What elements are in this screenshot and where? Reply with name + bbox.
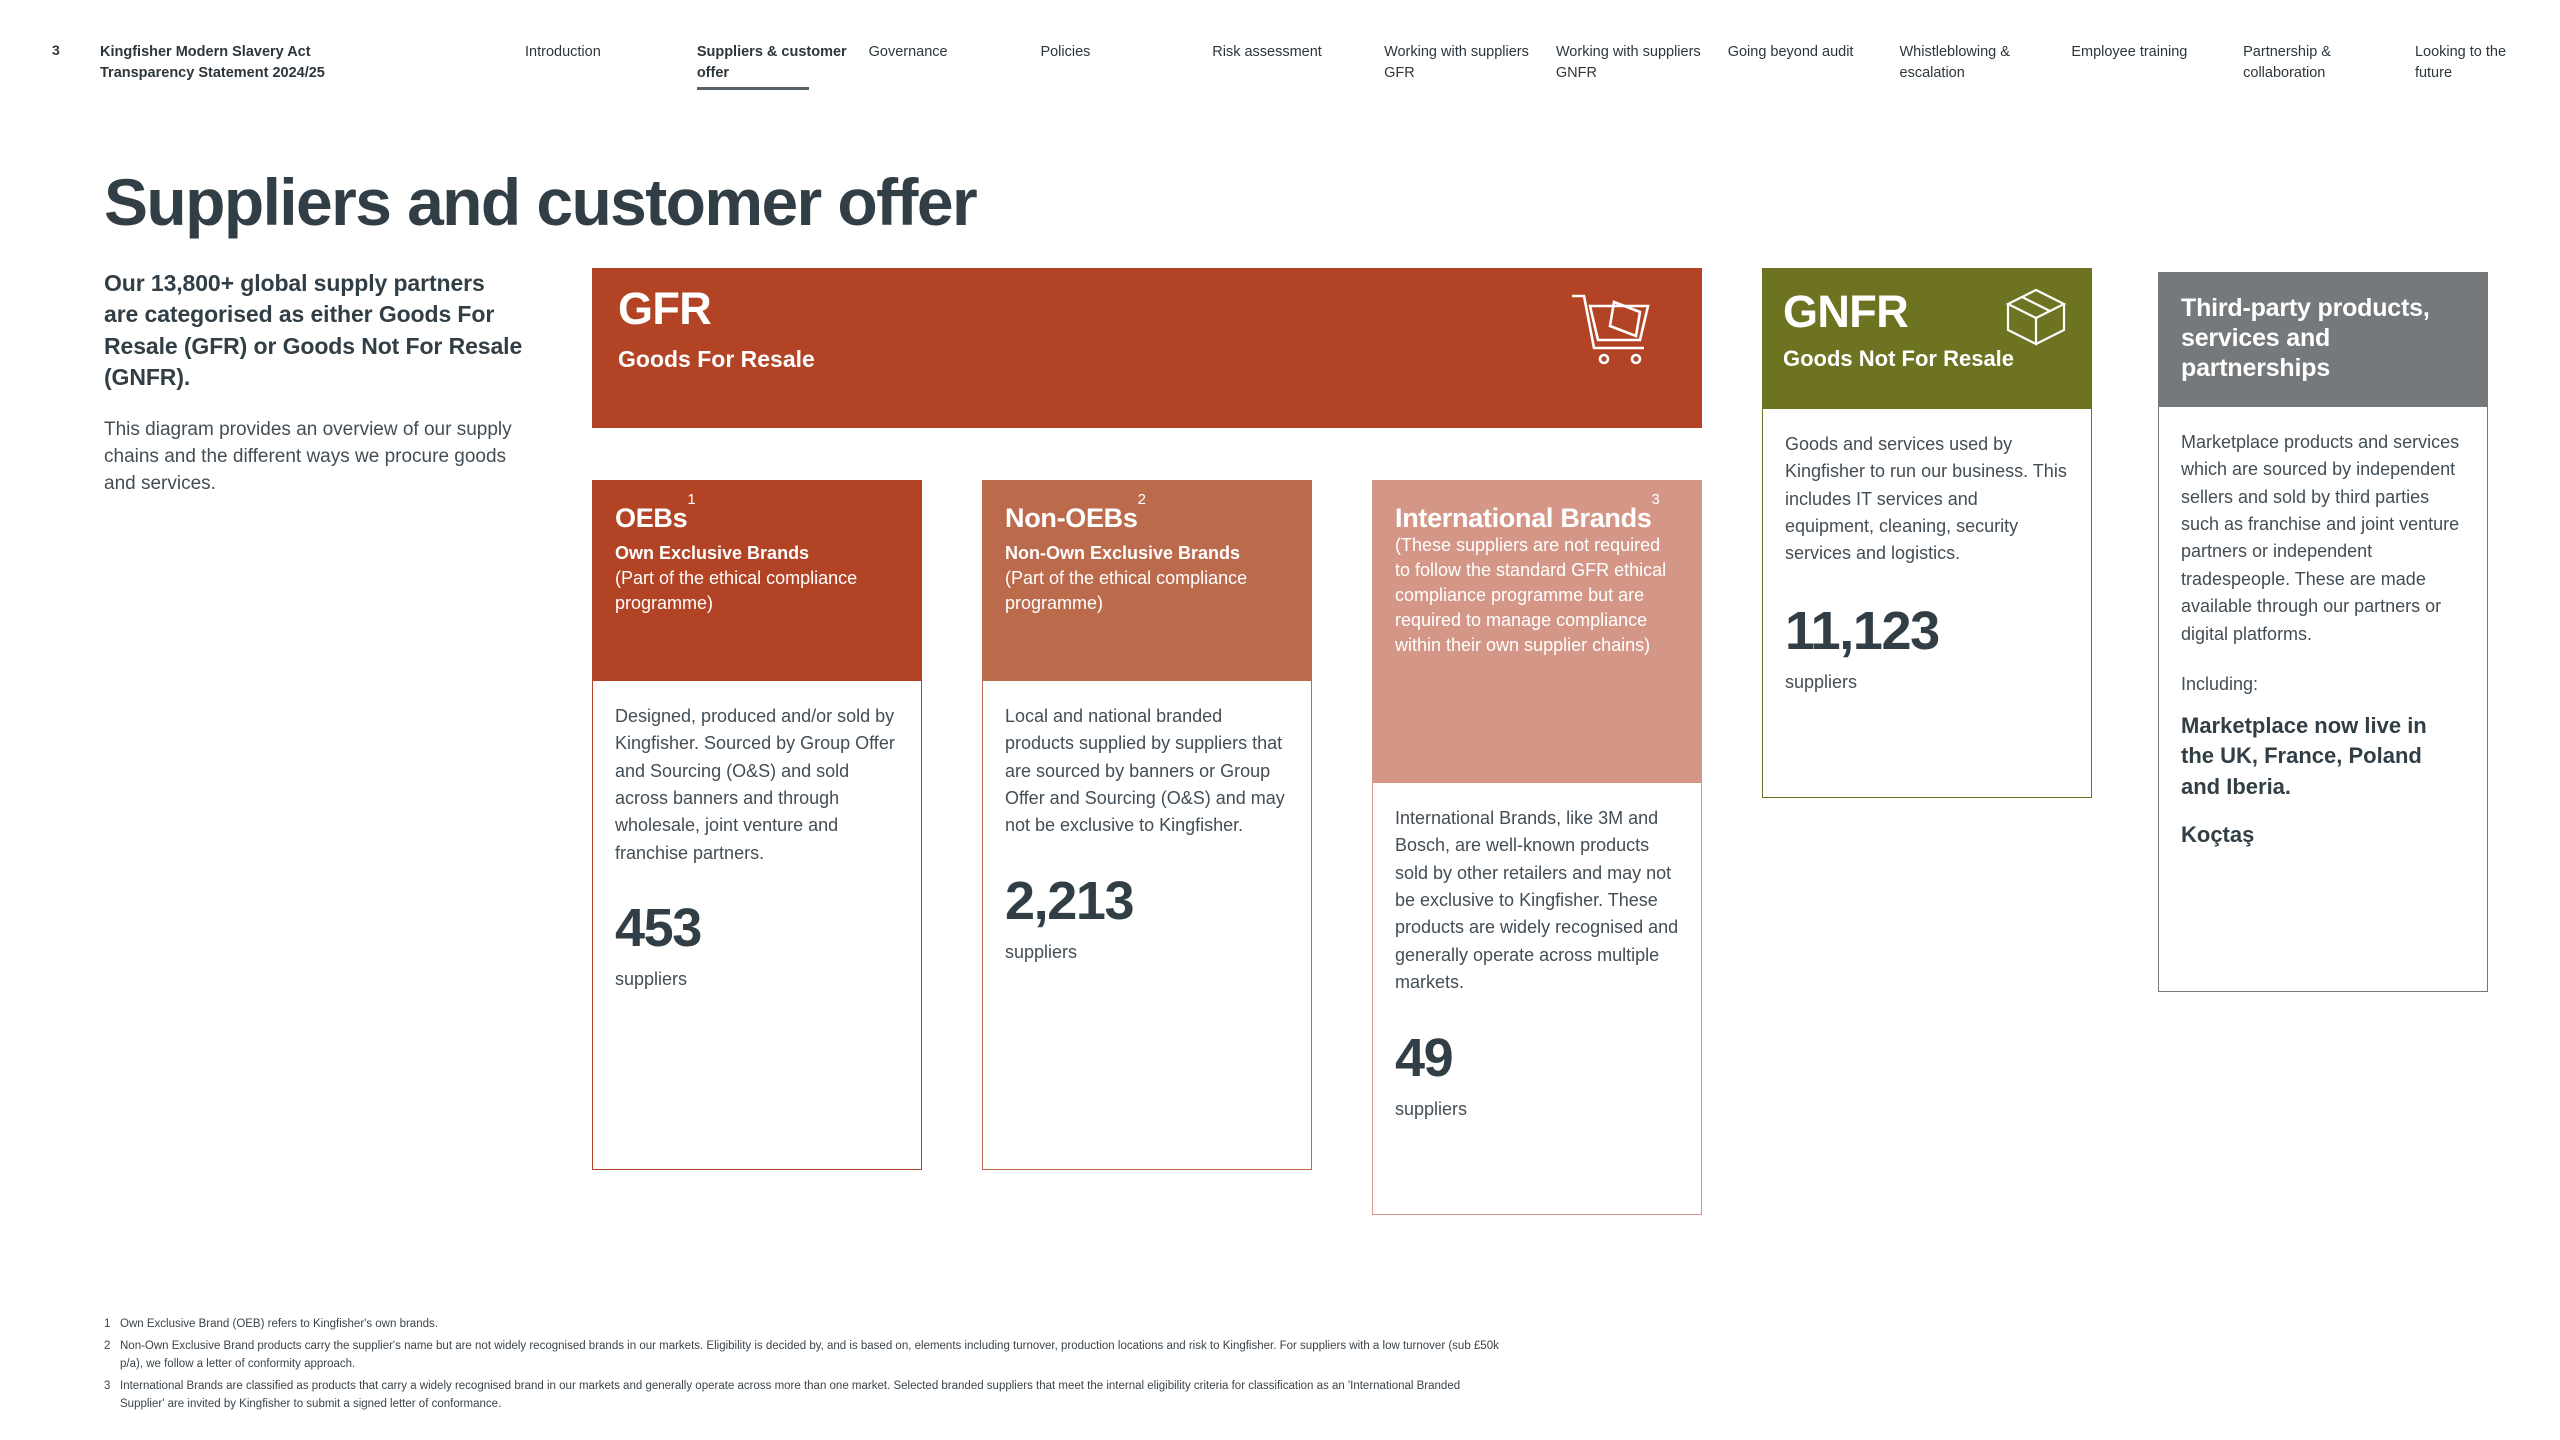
card-oebs-value-label: suppliers bbox=[615, 969, 899, 990]
card-oebs: OEBs1 Own Exclusive Brands (Part of the … bbox=[592, 480, 922, 1170]
card-oebs-title-text: OEBs bbox=[615, 503, 687, 533]
nav-item-risk-assessment[interactable]: Risk assessment bbox=[1212, 42, 1362, 70]
gnfr-value: 11,123 bbox=[1785, 604, 2069, 658]
card-international-brands-value-label: suppliers bbox=[1395, 1099, 1679, 1120]
nav-item-partnership-collaboration[interactable]: Partnership & collaboration bbox=[2243, 42, 2393, 90]
card-international-brands-body: International Brands, like 3M and Bosch,… bbox=[1373, 783, 1701, 1214]
footnote-2-text: Non-Own Exclusive Brand products carry t… bbox=[120, 1338, 1504, 1373]
nav-item-looking-to-the-future[interactable]: Looking to the future bbox=[2415, 42, 2535, 90]
gfr-name-label: Goods For Resale bbox=[618, 346, 815, 374]
card-non-oebs-subtitle-note: (Part of the ethical compliance programm… bbox=[1005, 566, 1289, 616]
card-non-oebs-title: Non-OEBs2 bbox=[1005, 503, 1289, 533]
nav-item-going-beyond-audit[interactable]: Going beyond audit bbox=[1728, 42, 1878, 70]
third-party-including-item-marketplace: Marketplace now live in the UK, France, … bbox=[2181, 711, 2465, 802]
footnote-2-number: 2 bbox=[104, 1338, 120, 1373]
footnotes: 1 Own Exclusive Brand (OEB) refers to Ki… bbox=[104, 1316, 1504, 1418]
card-non-oebs: Non-OEBs2 Non-Own Exclusive Brands (Part… bbox=[982, 480, 1312, 1170]
third-party-body-text: Marketplace products and services which … bbox=[2181, 429, 2465, 648]
card-oebs-body-text: Designed, produced and/or sold by Kingfi… bbox=[615, 703, 899, 867]
card-oebs-value: 453 bbox=[615, 901, 899, 955]
card-international-brands-footnote-ref: 3 bbox=[1652, 491, 1660, 508]
card-oebs-subtitle-strong: Own Exclusive Brands bbox=[615, 541, 899, 566]
card-non-oebs-body-text: Local and national branded products supp… bbox=[1005, 703, 1289, 840]
card-non-oebs-value-label: suppliers bbox=[1005, 942, 1289, 963]
card-oebs-subtitle-note: (Part of the ethical compliance programm… bbox=[615, 566, 899, 616]
card-non-oebs-value: 2,213 bbox=[1005, 874, 1289, 928]
nav-item-suppliers-customer-offer[interactable]: Suppliers & customer offer bbox=[697, 42, 847, 90]
footnote-2: 2 Non-Own Exclusive Brand products carry… bbox=[104, 1338, 1504, 1373]
card-international-brands-header: International Brands3 (These suppliers a… bbox=[1373, 481, 1701, 783]
card-non-oebs-subtitle-strong: Non-Own Exclusive Brands bbox=[1005, 541, 1289, 566]
third-party-including-item-koctas: Koçtaş bbox=[2181, 820, 2465, 850]
third-party-body: Marketplace products and services which … bbox=[2159, 407, 2487, 991]
page-title: Suppliers and customer offer bbox=[104, 168, 976, 237]
card-oebs-title: OEBs1 bbox=[615, 503, 899, 533]
intro-column: Our 13,800+ global supply partners are c… bbox=[104, 268, 524, 498]
intro-lead-text: Our 13,800+ global supply partners are c… bbox=[104, 268, 524, 393]
card-non-oebs-footnote-ref: 2 bbox=[1138, 491, 1146, 508]
footnote-3-text: International Brands are classified as p… bbox=[120, 1378, 1504, 1413]
page-number: 3 bbox=[52, 42, 60, 58]
card-international-brands-subtitle-note: (These suppliers are not required to fol… bbox=[1395, 533, 1679, 657]
document-title: Kingfisher Modern Slavery Act Transparen… bbox=[100, 42, 400, 83]
card-international-brands-title-text: International Brands bbox=[1395, 503, 1652, 533]
card-non-oebs-body: Local and national branded products supp… bbox=[983, 681, 1311, 1169]
column-third-party: Third-party products, services and partn… bbox=[2158, 272, 2488, 992]
top-navigation-bar: 3 Kingfisher Modern Slavery Act Transpar… bbox=[0, 0, 2560, 100]
gnfr-value-label: suppliers bbox=[1785, 672, 2069, 693]
card-non-oebs-title-text: Non-OEBs bbox=[1005, 503, 1138, 533]
card-international-brands-value: 49 bbox=[1395, 1031, 1679, 1085]
third-party-header: Third-party products, services and partn… bbox=[2159, 273, 2487, 407]
footnote-1-text: Own Exclusive Brand (OEB) refers to King… bbox=[120, 1316, 1504, 1333]
nav-item-working-with-suppliers-gnfr[interactable]: Working with suppliers GNFR bbox=[1556, 42, 1706, 90]
gnfr-body: Goods and services used by Kingfisher to… bbox=[1763, 409, 2091, 797]
column-gnfr: GNFR Goods Not For Resale Goods and serv… bbox=[1762, 268, 2092, 798]
footnote-1: 1 Own Exclusive Brand (OEB) refers to Ki… bbox=[104, 1316, 1504, 1333]
shopping-cart-icon bbox=[1570, 292, 1654, 371]
card-international-brands-title: International Brands3 bbox=[1395, 503, 1679, 533]
footnote-3: 3 International Brands are classified as… bbox=[104, 1378, 1504, 1413]
intro-body-text: This diagram provides an overview of our… bbox=[104, 417, 524, 498]
nav-item-policies[interactable]: Policies bbox=[1040, 42, 1190, 70]
card-international-brands-body-text: International Brands, like 3M and Bosch,… bbox=[1395, 805, 1679, 997]
gnfr-body-text: Goods and services used by Kingfisher to… bbox=[1785, 431, 2069, 568]
third-party-title: Third-party products, services and partn… bbox=[2181, 293, 2465, 383]
card-non-oebs-header: Non-OEBs2 Non-Own Exclusive Brands (Part… bbox=[983, 481, 1311, 681]
box-icon bbox=[2005, 287, 2067, 352]
nav-item-working-with-suppliers-gfr[interactable]: Working with suppliers GFR bbox=[1384, 42, 1534, 90]
nav-items: Introduction Suppliers & customer offer … bbox=[525, 42, 2535, 90]
gnfr-header: GNFR Goods Not For Resale bbox=[1763, 269, 2091, 409]
card-oebs-footnote-ref: 1 bbox=[687, 491, 695, 508]
nav-item-whistleblowing-escalation[interactable]: Whistleblowing & escalation bbox=[1900, 42, 2050, 90]
nav-item-introduction[interactable]: Introduction bbox=[525, 42, 675, 70]
third-party-including-label: Including: bbox=[2181, 674, 2465, 695]
footnote-3-number: 3 bbox=[104, 1378, 120, 1413]
gfr-code-label: GFR bbox=[618, 286, 711, 331]
card-international-brands: International Brands3 (These suppliers a… bbox=[1372, 480, 1702, 1215]
card-oebs-body: Designed, produced and/or sold by Kingfi… bbox=[593, 681, 921, 1169]
card-oebs-header: OEBs1 Own Exclusive Brands (Part of the … bbox=[593, 481, 921, 681]
gfr-banner: GFR Goods For Resale bbox=[592, 268, 1702, 428]
nav-item-governance[interactable]: Governance bbox=[869, 42, 1019, 70]
footnote-1-number: 1 bbox=[104, 1316, 120, 1333]
nav-item-employee-training[interactable]: Employee training bbox=[2071, 42, 2221, 70]
